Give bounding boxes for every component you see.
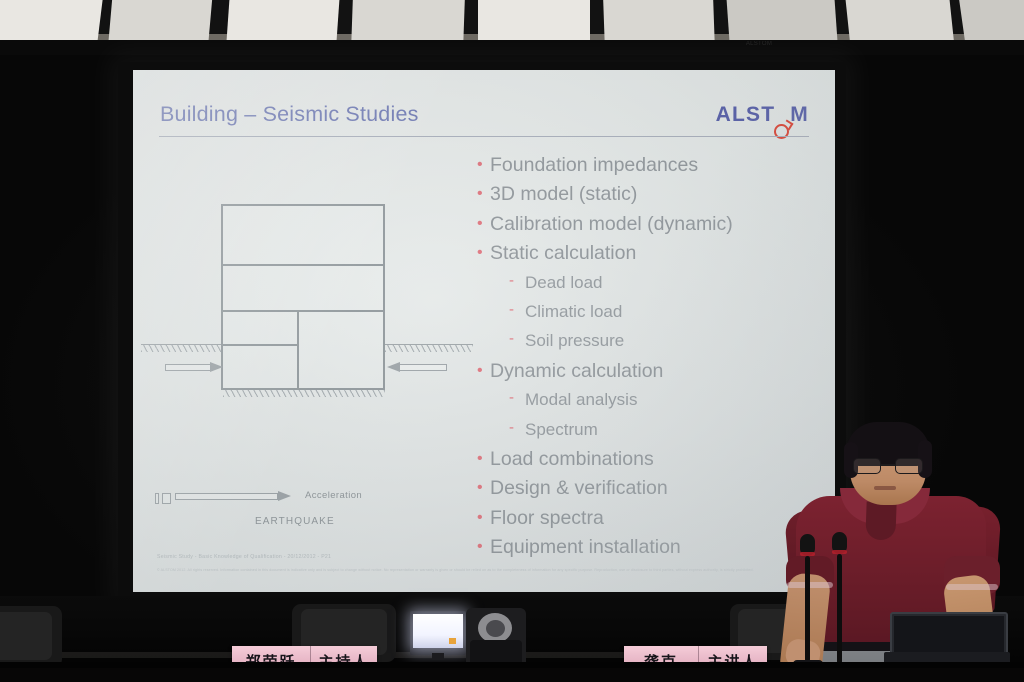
ceiling-alstom-logo: ALSTOM	[742, 40, 776, 49]
slide-bullet: •Design & verification	[477, 479, 817, 507]
building-section-diagram: Acceleration EARTHQUAKE	[141, 190, 471, 520]
dash-marker-icon: -	[509, 420, 525, 435]
slide-bullet: •Foundation impedances	[477, 156, 817, 184]
slide-bullet: •3D model (static)	[477, 185, 817, 213]
slide-bullet: •Floor spectra	[477, 509, 817, 537]
slide-bullet: •Calibration model (dynamic)	[477, 215, 817, 243]
table-front-face	[0, 668, 1024, 682]
bullet-text: Modal analysis	[525, 391, 637, 408]
dash-marker-icon: -	[509, 302, 525, 317]
bullet-text: Soil pressure	[525, 332, 624, 349]
slide-bullet: •Static calculation	[477, 244, 817, 272]
seismic-arrow-right	[387, 362, 447, 373]
dot-marker-icon: •	[477, 245, 490, 261]
left-cuff-trim	[787, 582, 833, 588]
ceiling: ALSTOM	[0, 0, 1024, 62]
acceleration-arrow	[175, 491, 291, 502]
bullet-text: 3D model (static)	[490, 185, 637, 205]
acceleration-label: Acceleration	[305, 490, 362, 501]
dot-marker-icon: •	[477, 363, 490, 379]
slide-bullet: •Equipment installation	[477, 538, 817, 566]
bullet-text: Spectrum	[525, 421, 598, 438]
earthquake-label: EARTHQUAKE	[255, 516, 335, 527]
floor-line-3	[221, 344, 299, 346]
ground-hatch-left	[141, 345, 223, 352]
slide-bullet: •Dynamic calculation	[477, 362, 817, 390]
foundation-hatch	[223, 390, 385, 397]
ground-hatch-right	[385, 345, 473, 352]
building-outline	[221, 204, 385, 390]
dash-marker-icon: -	[509, 273, 525, 288]
monitor-stand	[432, 653, 444, 660]
floor-line-2	[221, 310, 385, 312]
bullet-text: Calibration model (dynamic)	[490, 215, 733, 235]
scale-tick	[155, 493, 159, 504]
camera-lens-inner	[486, 620, 505, 637]
mouth	[874, 486, 896, 490]
bullet-text: Load combinations	[490, 450, 654, 470]
dash-marker-icon: -	[509, 331, 525, 346]
glasses-icon	[852, 458, 924, 474]
floor-line-1	[221, 264, 385, 266]
slide-bullet: •Load combinations	[477, 450, 817, 478]
title-divider	[159, 136, 809, 137]
bullet-text: Static calculation	[490, 244, 636, 264]
acceleration-legend: Acceleration EARTHQUAKE	[155, 488, 465, 532]
slide-title: Building – Seismic Studies	[160, 102, 419, 127]
laptop-screen	[894, 616, 1004, 652]
dot-marker-icon: •	[477, 480, 490, 496]
interior-wall	[297, 310, 299, 390]
slide-sub-bullet: -Climatic load	[477, 303, 817, 331]
bullet-text: Foundation impedances	[490, 156, 698, 176]
slide-footer-reference: Seismic Study - Basic Knowledge of Quali…	[157, 554, 331, 560]
monitor-indicator	[449, 638, 456, 644]
slide-sub-bullet: -Modal analysis	[477, 391, 817, 419]
dash-marker-icon: -	[509, 390, 525, 405]
chair	[0, 606, 62, 668]
slide-sub-bullet: -Soil pressure	[477, 332, 817, 360]
bullet-text: Dead load	[525, 274, 603, 291]
alstom-logo: ALSTM	[716, 103, 809, 127]
slide-sub-bullet: -Dead load	[477, 274, 817, 302]
dot-marker-icon: •	[477, 186, 490, 202]
slide-footer-legal: © ALSTOM 2012. All rights reserved. Info…	[157, 568, 807, 573]
right-cuff-trim	[946, 584, 998, 590]
dot-marker-icon: •	[477, 216, 490, 232]
bullet-text: Floor spectra	[490, 509, 604, 529]
alstom-prefix: ALST	[716, 103, 776, 126]
slide-sub-bullet: -Spectrum	[477, 421, 817, 449]
seismic-arrow-left	[165, 362, 223, 373]
microphone-stem	[805, 556, 810, 662]
bullet-text: Dynamic calculation	[490, 362, 663, 382]
dot-marker-icon: •	[477, 451, 490, 467]
bullet-text: Equipment installation	[490, 538, 681, 558]
projected-slide: Building – Seismic Studies ALSTM	[133, 70, 835, 592]
dot-marker-icon: •	[477, 510, 490, 526]
collar-v-opening	[865, 501, 896, 540]
presentation-photo: ALSTOM Building – Seismic Studies ALSTM	[0, 0, 1024, 682]
microphone-stem	[837, 554, 842, 664]
dot-marker-icon: •	[477, 539, 490, 555]
bullet-text: Design & verification	[490, 479, 668, 499]
dot-marker-icon: •	[477, 157, 490, 173]
slide-bullet-list: •Foundation impedances•3D model (static)…	[477, 156, 817, 567]
bullet-text: Climatic load	[525, 303, 622, 320]
scale-tick	[162, 493, 171, 504]
